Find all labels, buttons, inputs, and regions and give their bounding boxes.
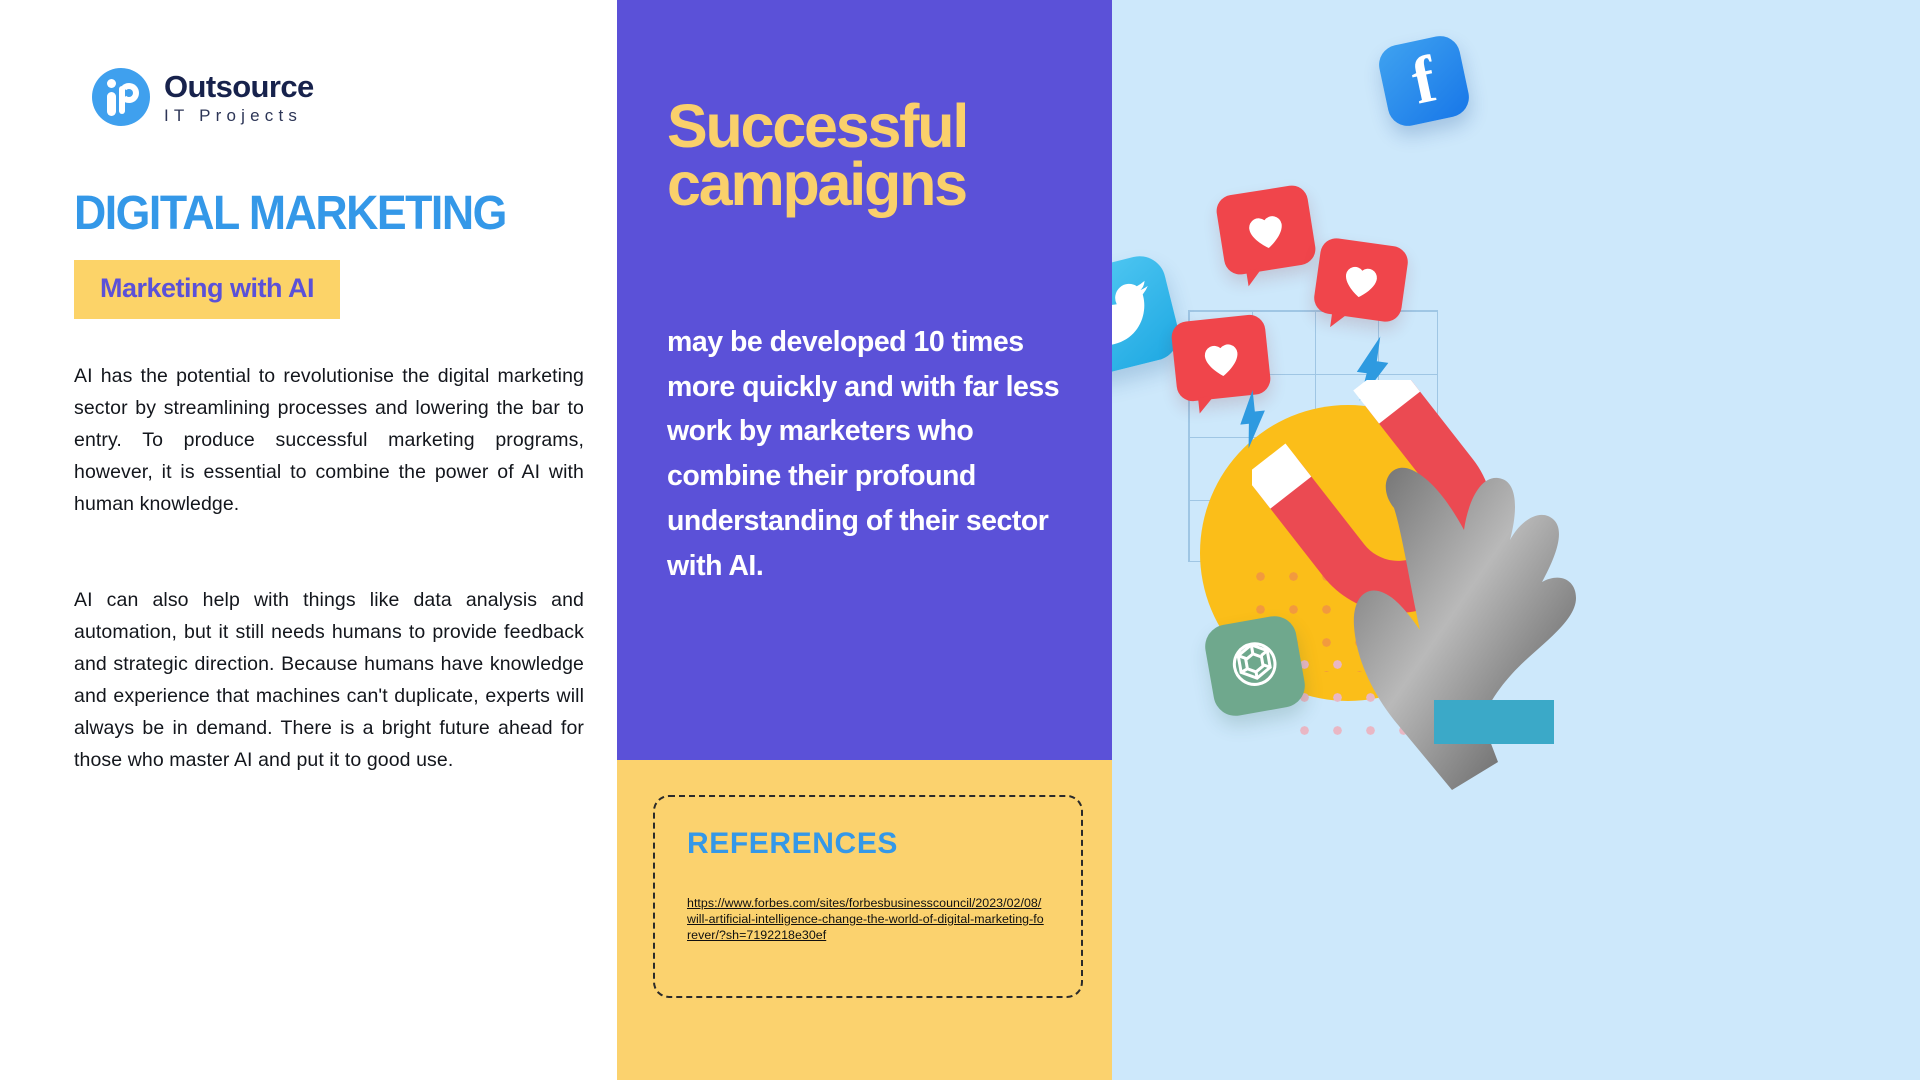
illustration-panel: f: [1112, 0, 1920, 1080]
heart-reaction-icon: [1214, 183, 1317, 276]
hand-icon: [1302, 390, 1602, 830]
body-paragraph-1: AI has the potential to revolutionise th…: [74, 360, 584, 520]
subtitle-badge: Marketing with AI: [74, 260, 340, 319]
facebook-icon: f: [1375, 32, 1472, 129]
middle-highlight-column: Successful campaigns may be developed 10…: [617, 0, 1112, 1080]
outsource-ip-logo-icon: [92, 68, 150, 126]
left-content-column: Outsource IT Projects DIGITAL MARKETING …: [0, 0, 617, 1080]
infographic-page: Outsource IT Projects DIGITAL MARKETING …: [0, 0, 1920, 1080]
brand-logo: Outsource IT Projects: [92, 68, 314, 126]
references-title: REFERENCES: [687, 827, 898, 861]
facebook-glyph: f: [1377, 40, 1471, 122]
body-paragraph-2: AI can also help with things like data a…: [74, 584, 584, 776]
page-title: DIGITAL MARKETING: [74, 186, 506, 241]
highlight-body: may be developed 10 times more quickly a…: [667, 320, 1075, 588]
references-box: REFERENCES https://www.forbes.com/sites/…: [653, 795, 1083, 998]
reference-link[interactable]: https://www.forbes.com/sites/forbesbusin…: [687, 895, 1047, 943]
openai-logo-icon: [1202, 613, 1309, 720]
teal-bar-decoration: [1434, 700, 1554, 744]
brand-tagline: IT Projects: [164, 107, 314, 124]
heart-reaction-icon: [1312, 236, 1410, 324]
highlight-headline: Successful campaigns: [667, 98, 1087, 214]
brand-name: Outsource: [164, 71, 314, 102]
